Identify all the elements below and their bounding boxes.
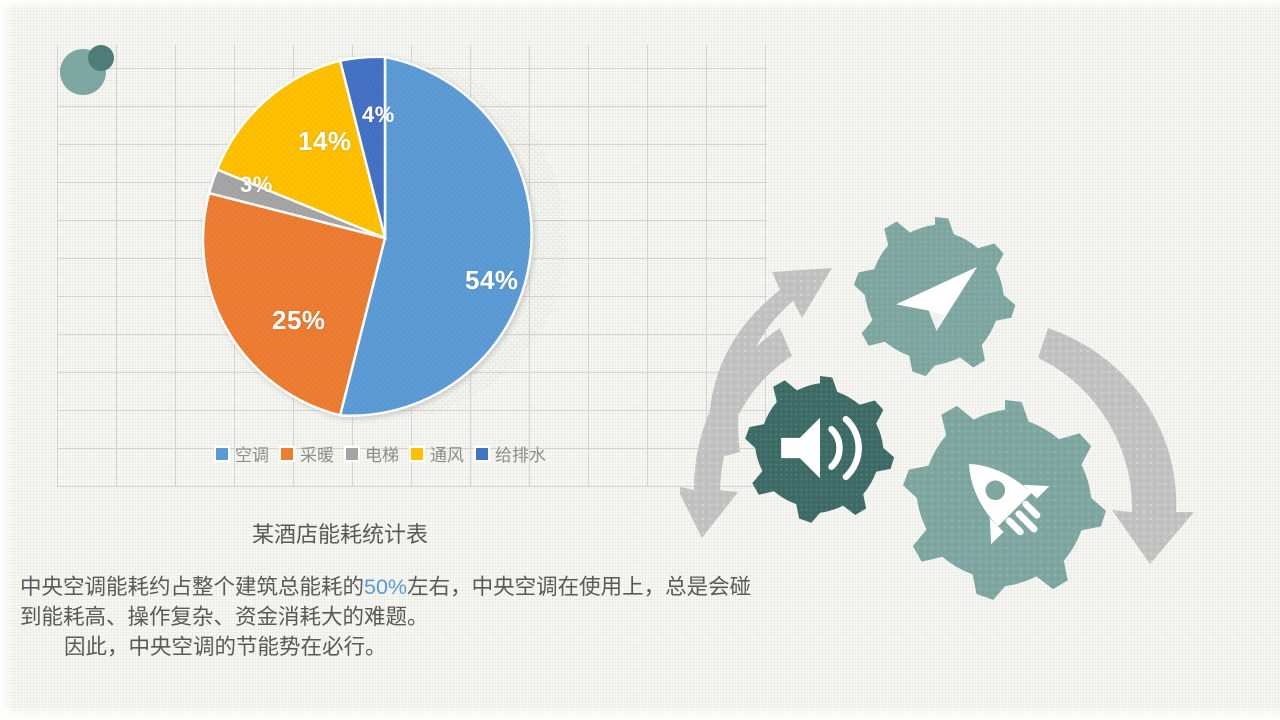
pie-chart-svg xyxy=(0,0,780,470)
legend-swatch-icon-kongtiao xyxy=(214,446,230,462)
pie-value-label-tongfeng: 14% xyxy=(298,126,352,157)
body-line-1-before: 中央空调能耗约占整个建筑总能耗的 xyxy=(20,575,364,599)
pie-value-label-kongtiao: 54% xyxy=(465,265,519,296)
legend-label-jipaishui: 给排水 xyxy=(495,441,546,466)
legend-item-cainuan[interactable]: 采暖 xyxy=(279,441,334,466)
slide-canvas: 54% 25% 3% 14% 4% 空调 采暖 电梯 通风 xyxy=(0,0,1280,720)
legend-label-kongtiao: 空调 xyxy=(235,441,269,466)
pie-chart: 54% 25% 3% 14% 4% 空调 采暖 电梯 通风 xyxy=(0,0,780,560)
body-accent-percentage: 50% xyxy=(364,575,407,599)
chart-legend: 空调 采暖 电梯 通风 给排水 xyxy=(214,441,546,466)
legend-label-dianti: 电梯 xyxy=(365,441,399,466)
body-line-3-wrapper: 因此，中央空调的节能势在必行。 xyxy=(20,632,860,662)
gear-left-speaker xyxy=(745,376,894,523)
legend-item-kongtiao[interactable]: 空调 xyxy=(214,441,269,466)
legend-label-cainuan: 采暖 xyxy=(300,441,334,466)
gears-svg xyxy=(680,160,1280,640)
pie-value-label-cainuan: 25% xyxy=(272,305,326,336)
pie-value-label-jipaishui: 4% xyxy=(362,102,395,128)
gear-top-paper-plane xyxy=(854,217,1015,376)
body-line-2: 到能耗高、操作复杂、资金消耗大的难题。 xyxy=(20,602,860,632)
paper-edge-bottom xyxy=(0,706,1280,720)
pie-value-label-dianti: 3% xyxy=(240,172,273,198)
legend-swatch-icon-dianti xyxy=(344,446,360,462)
body-line-1-after: 左右，中央空调在使用上，总是会碰 xyxy=(407,575,751,599)
legend-item-jipaishui[interactable]: 给排水 xyxy=(474,441,546,466)
legend-swatch-icon-tongfeng xyxy=(409,446,425,462)
body-paragraph: 中央空调能耗约占整个建筑总能耗的50%左右，中央空调在使用上，总是会碰 到能耗高… xyxy=(20,572,860,662)
body-line-3: 因此，中央空调的节能势在必行。 xyxy=(64,635,387,659)
legend-swatch-icon-cainuan xyxy=(279,446,295,462)
gear-bottom-rocket xyxy=(903,400,1106,600)
legend-swatch-icon-jipaishui xyxy=(474,446,490,462)
body-line-1: 中央空调能耗约占整个建筑总能耗的50%左右，中央空调在使用上，总是会碰 xyxy=(20,572,860,602)
legend-item-dianti[interactable]: 电梯 xyxy=(344,441,399,466)
gears-illustration xyxy=(680,160,1280,640)
legend-item-tongfeng[interactable]: 通风 xyxy=(409,441,464,466)
chart-caption: 某酒店能耗统计表 xyxy=(252,517,428,549)
legend-label-tongfeng: 通风 xyxy=(430,441,464,466)
